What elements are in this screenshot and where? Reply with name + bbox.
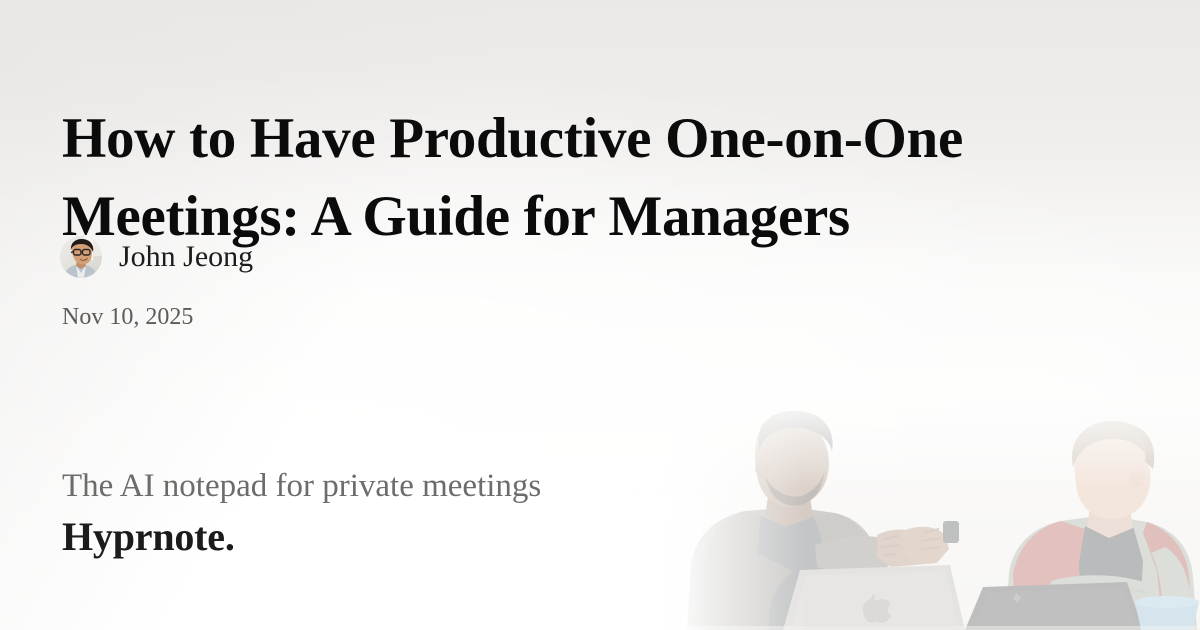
author-byline: John Jeong [60, 236, 253, 278]
brand-name: Hyprnote. [62, 513, 541, 561]
content-layer: How to Have Productive One-on-One Meetin… [0, 0, 1200, 630]
avatar-photo-icon [60, 236, 102, 278]
author-name: John Jeong [119, 242, 253, 272]
brand-tagline: The AI notepad for private meetings [62, 466, 541, 507]
avatar [60, 236, 102, 278]
page-title: How to Have Productive One-on-One Meetin… [62, 100, 1152, 255]
brand-block: The AI notepad for private meetings Hypr… [62, 466, 541, 561]
og-card: How to Have Productive One-on-One Meetin… [0, 0, 1200, 630]
post-date: Nov 10, 2025 [62, 305, 193, 329]
